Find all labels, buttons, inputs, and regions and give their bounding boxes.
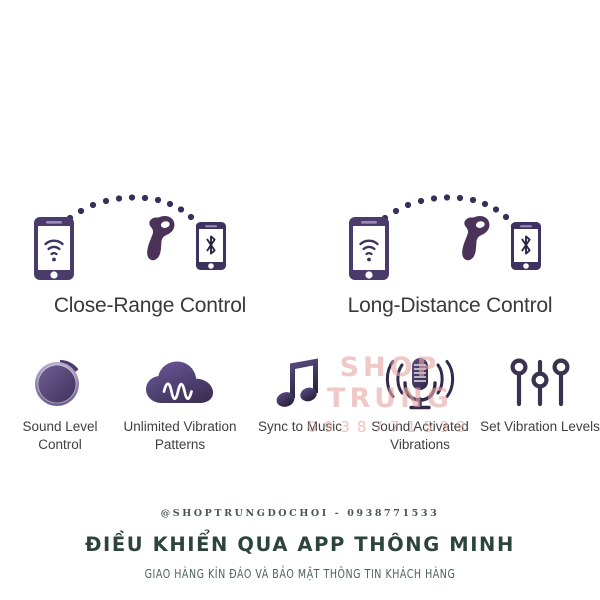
- product-infographic: Close-Range Control: [0, 0, 600, 600]
- feature-set-vibration-levels: Set Vibration Levels: [480, 352, 600, 472]
- footer-subheading: GIAO HÀNG KÍN ĐÁO VÀ BẢO MẬT THÔNG TIN K…: [36, 567, 564, 581]
- feature-label: Sound Activated Vibrations: [350, 418, 490, 454]
- feature-icon-wrap: [30, 352, 90, 414]
- control-scenes: Close-Range Control: [0, 160, 600, 320]
- feature-sync-to-music: Sync to Music: [240, 352, 360, 472]
- feature-icon-wrap: [509, 352, 571, 414]
- scene-illustration: [0, 160, 300, 280]
- microphone-icon: [381, 354, 459, 412]
- footer-handle: @SHOPTRUNGDOCHOI - 0938771533: [0, 508, 600, 519]
- scene-close-range: Close-Range Control: [0, 160, 300, 320]
- feature-unlimited-vibration-patterns: Unlimited Vibration Patterns: [120, 352, 240, 472]
- feature-icon-wrap: [381, 352, 459, 414]
- scene-title: Long-Distance Control: [300, 294, 600, 318]
- dotted-arc-connection-icon: [58, 194, 202, 230]
- feature-row: Sound Level Control Unlimited Vibration …: [0, 352, 600, 472]
- dotted-arc-connection-icon: [373, 194, 517, 230]
- footer-heading: ĐIỀU KHIỂN QUA APP THÔNG MINH: [0, 533, 600, 556]
- scene-illustration: [300, 160, 600, 280]
- feature-sound-level-control: Sound Level Control: [0, 352, 120, 472]
- sound-wave-right: [438, 362, 453, 397]
- feature-sound-activated-vibrations: Sound Activated Vibrations: [360, 352, 480, 472]
- sound-wave-left: [387, 362, 402, 397]
- scene-long-distance: Long-Distance Control: [300, 160, 600, 320]
- feature-icon-wrap: [274, 352, 326, 414]
- close-range-illustration: [0, 160, 300, 280]
- phone-left: [349, 217, 389, 280]
- scene-title: Close-Range Control: [0, 294, 300, 318]
- music-note-icon: [274, 354, 326, 412]
- feature-label: Sync to Music: [230, 418, 370, 436]
- phone-left: [34, 217, 74, 280]
- phone-right: [196, 222, 226, 270]
- phone-right: [511, 222, 541, 270]
- feature-label: Unlimited Vibration Patterns: [110, 418, 250, 454]
- footer: @SHOPTRUNGDOCHOI - 0938771533 ĐIỀU KHIỂN…: [0, 508, 600, 581]
- long-distance-illustration: [300, 160, 600, 280]
- vibrator-device-icon: [147, 216, 174, 260]
- volume-knob-icon: [30, 354, 90, 412]
- feature-label: Set Vibration Levels: [470, 418, 600, 436]
- vibrator-device-icon: [462, 216, 489, 260]
- sliders-icon: [509, 356, 571, 410]
- cloud-wave-icon: [144, 355, 216, 411]
- feature-icon-wrap: [144, 352, 216, 414]
